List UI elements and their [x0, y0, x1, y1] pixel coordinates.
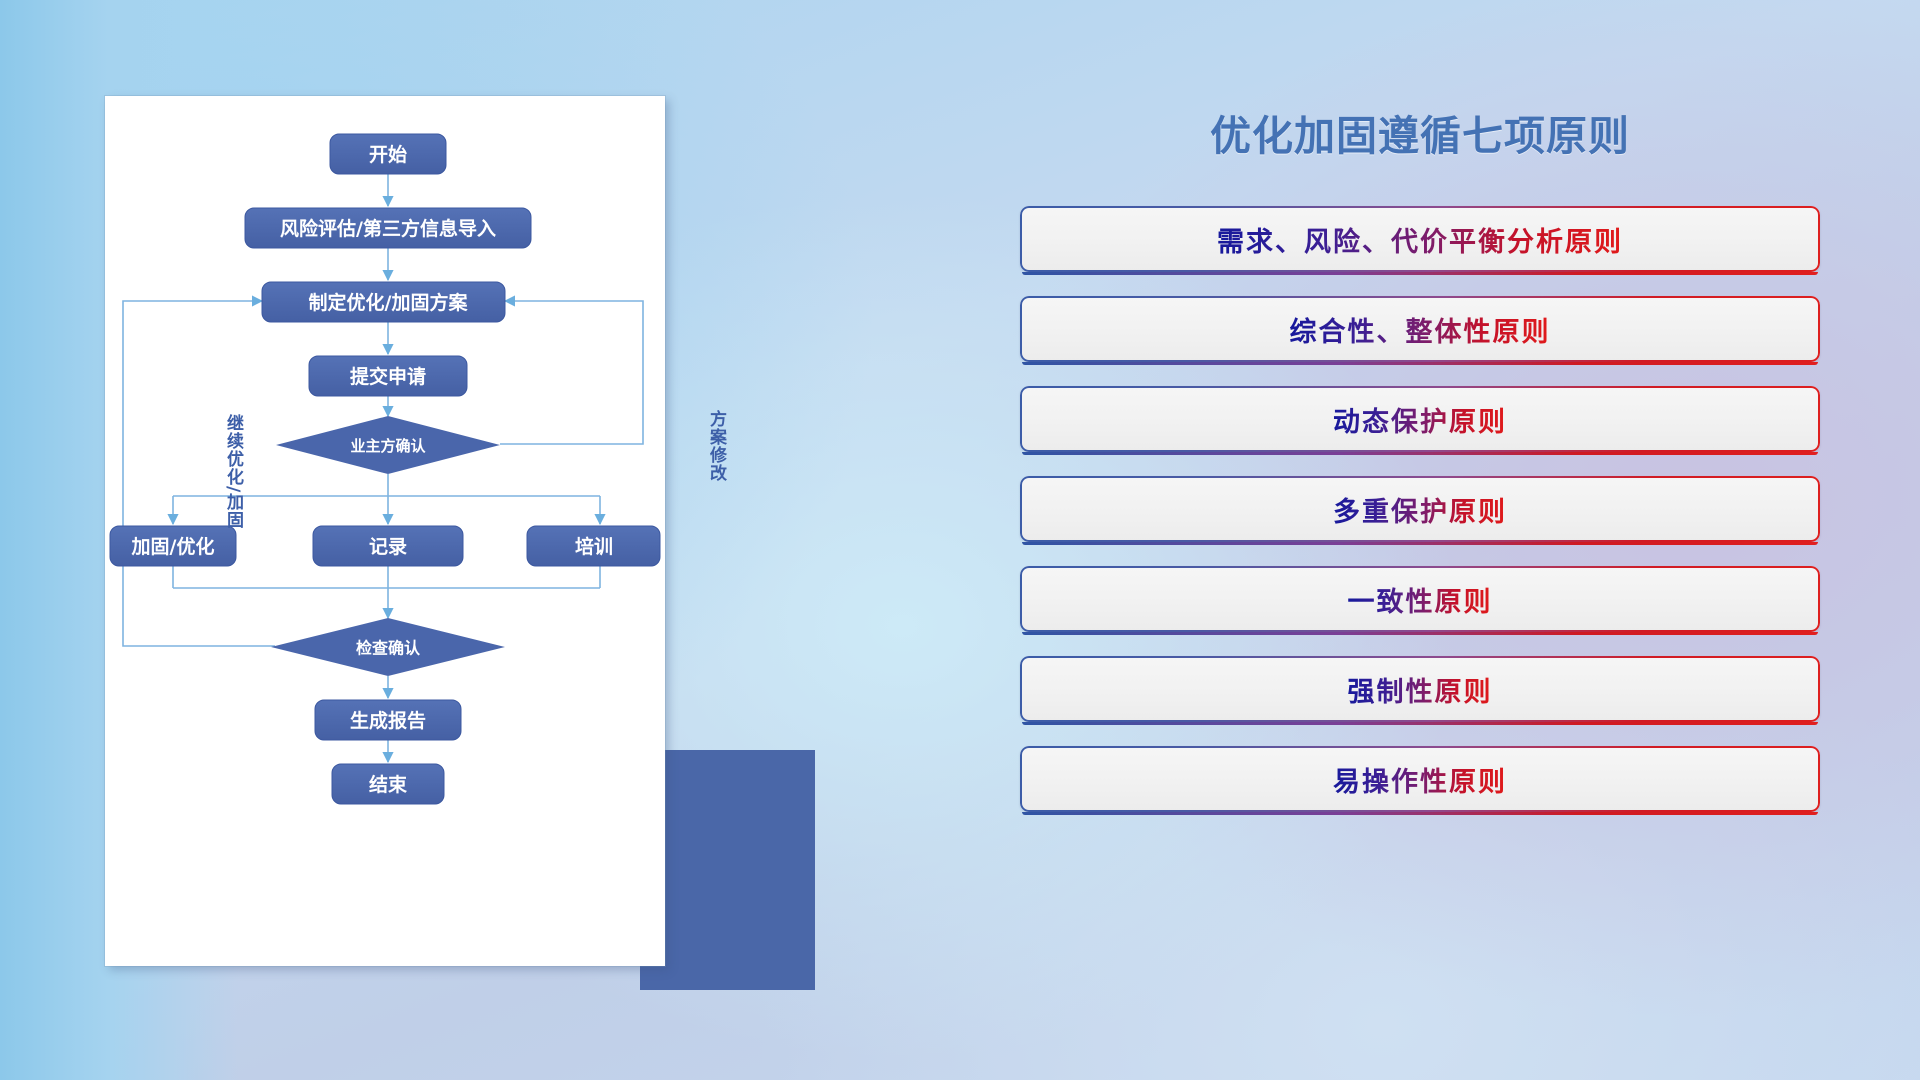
node-end[interactable]: 结束 — [332, 764, 444, 804]
flowchart-card: 开始 风险评估/第三方信息导入 制定优化/加固方案 提交申请 业主方确认 加固/… — [105, 96, 665, 966]
principle-label-4: 多重保护原则 — [1333, 490, 1507, 529]
principle-card-7[interactable]: 易操作性原则 — [1020, 746, 1820, 812]
principle-card-6[interactable]: 强制性原则 — [1020, 656, 1820, 722]
principle-card-1[interactable]: 需求、风险、代价平衡分析原则 — [1020, 206, 1820, 272]
node-generate-report-label: 生成报告 — [350, 709, 426, 732]
node-check-confirm-label: 检查确认 — [356, 639, 421, 658]
node-reinforce-optimize-label: 加固/优化 — [131, 535, 215, 558]
node-risk-assessment[interactable]: 风险评估/第三方信息导入 — [245, 208, 531, 248]
page-title: 优化加固遵循七项原则 — [1020, 102, 1820, 162]
principle-card-3[interactable]: 动态保护原则 — [1020, 386, 1820, 452]
node-record[interactable]: 记录 — [313, 526, 463, 566]
principle-card-5[interactable]: 一致性原则 — [1020, 566, 1820, 632]
principle-label-6: 强制性原则 — [1348, 670, 1493, 709]
node-check-confirm[interactable]: 检查确认 — [271, 618, 505, 676]
principle-card-4[interactable]: 多重保护原则 — [1020, 476, 1820, 542]
node-submit-application[interactable]: 提交申请 — [309, 356, 467, 396]
principle-label-7: 易操作性原则 — [1333, 760, 1507, 799]
node-make-plan[interactable]: 制定优化/加固方案 — [262, 282, 505, 322]
principle-label-3: 动态保护原则 — [1333, 400, 1507, 439]
node-start-label: 开始 — [369, 143, 407, 166]
node-training[interactable]: 培训 — [527, 526, 660, 566]
node-reinforce-optimize[interactable]: 加固/优化 — [110, 526, 236, 566]
principles-panel: 优化加固遵循七项原则 需求、风险、代价平衡分析原则 综合性、整体性原则 动态保护… — [1020, 76, 1820, 996]
node-make-plan-label: 制定优化/加固方案 — [309, 291, 469, 314]
node-record-label: 记录 — [369, 536, 407, 558]
node-owner-confirm[interactable]: 业主方确认 — [276, 416, 500, 474]
flowchart-diagram: 开始 风险评估/第三方信息导入 制定优化/加固方案 提交申请 业主方确认 加固/… — [105, 96, 665, 966]
principle-label-5: 一致性原则 — [1348, 580, 1493, 619]
edge-label-continue-optimize: 继续优化/加固 — [224, 414, 241, 529]
node-submit-application-label: 提交申请 — [350, 365, 426, 388]
node-generate-report[interactable]: 生成报告 — [315, 700, 461, 740]
principle-label-1: 需求、风险、代价平衡分析原则 — [1217, 220, 1623, 259]
edge-check-continue-to-plan — [123, 301, 275, 646]
principles-list: 需求、风险、代价平衡分析原则 综合性、整体性原则 动态保护原则 多重保护原则 一… — [1020, 206, 1820, 812]
flowchart-accent-shadow — [640, 750, 815, 990]
node-owner-confirm-label: 业主方确认 — [350, 437, 426, 455]
node-start[interactable]: 开始 — [330, 134, 446, 174]
edge-label-plan-revision: 方案修改 — [707, 410, 724, 482]
principle-label-2: 综合性、整体性原则 — [1290, 310, 1551, 349]
node-training-label: 培训 — [575, 535, 613, 558]
node-risk-assessment-label: 风险评估/第三方信息导入 — [280, 217, 496, 240]
node-end-label: 结束 — [369, 773, 408, 796]
principle-card-2[interactable]: 综合性、整体性原则 — [1020, 296, 1820, 362]
edge-owner-revise-to-plan — [500, 301, 643, 444]
